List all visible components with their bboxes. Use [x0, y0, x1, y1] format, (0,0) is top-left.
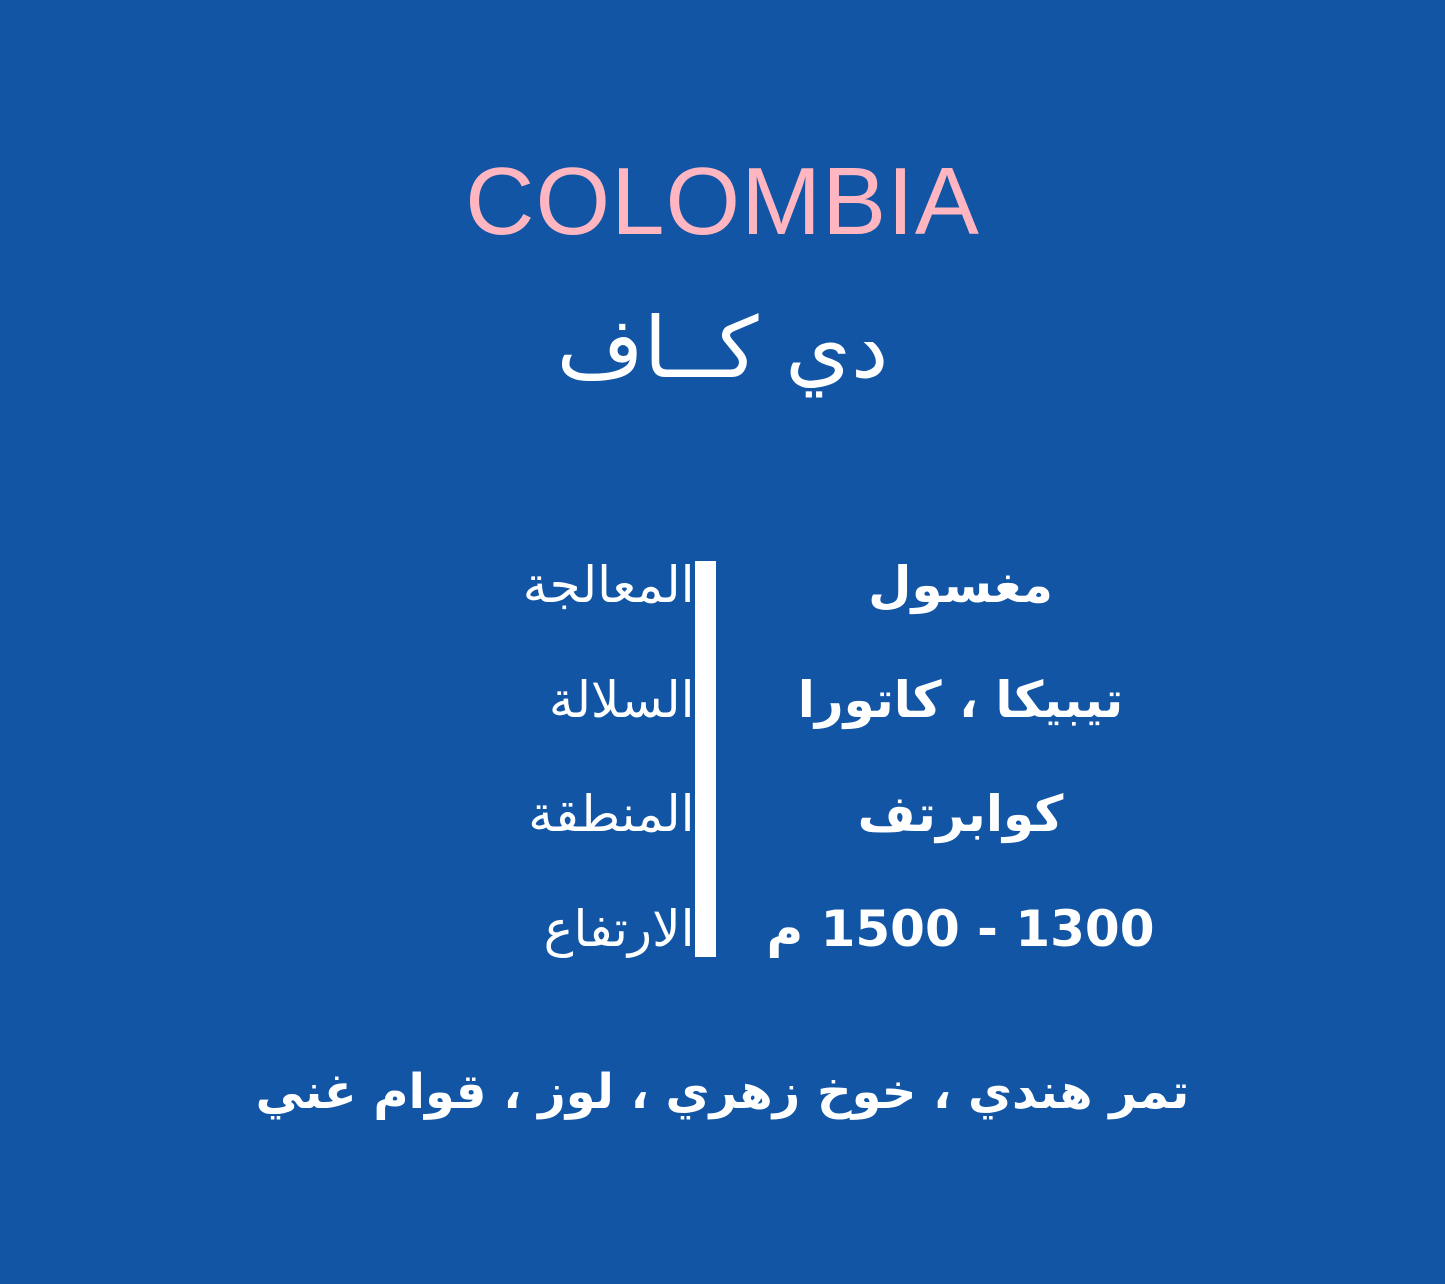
specs-values-column: مغسول تيبيكا ، كاتورا كوابرتف 1300 - 150… [716, 556, 1206, 960]
tasting-notes-section: تمر هندي ، خوخ زهري ، لوز ، قوام غني [0, 1062, 1445, 1122]
page-title-english: COLOMBIA [0, 150, 1445, 254]
card-header: COLOMBIA دي كــاف [0, 150, 1445, 405]
spec-label-altitude: الارتفاع [544, 904, 695, 954]
spec-value-region: كوابرتف [858, 789, 1064, 839]
spec-label-variety: السلالة [549, 675, 695, 725]
spec-value-processing: مغسول [868, 560, 1053, 610]
spec-label-processing: المعالجة [523, 560, 695, 610]
specs-section: مغسول تيبيكا ، كاتورا كوابرتف 1300 - 150… [0, 556, 1445, 960]
spec-value-altitude: 1300 - 1500 م [767, 904, 1155, 954]
tasting-notes-text: تمر هندي ، خوخ زهري ، لوز ، قوام غني [256, 1064, 1190, 1120]
specs-labels-column: المعالجة السلالة المنطقة الارتفاع [240, 556, 695, 960]
coffee-label-card: COLOMBIA دي كــاف مغسول تيبيكا ، كاتورا … [0, 0, 1445, 1284]
page-subtitle-arabic: دي كــاف [0, 292, 1445, 405]
vertical-divider [695, 561, 716, 957]
spec-label-region: المنطقة [528, 789, 694, 839]
spec-value-variety: تيبيكا ، كاتورا [798, 675, 1124, 725]
